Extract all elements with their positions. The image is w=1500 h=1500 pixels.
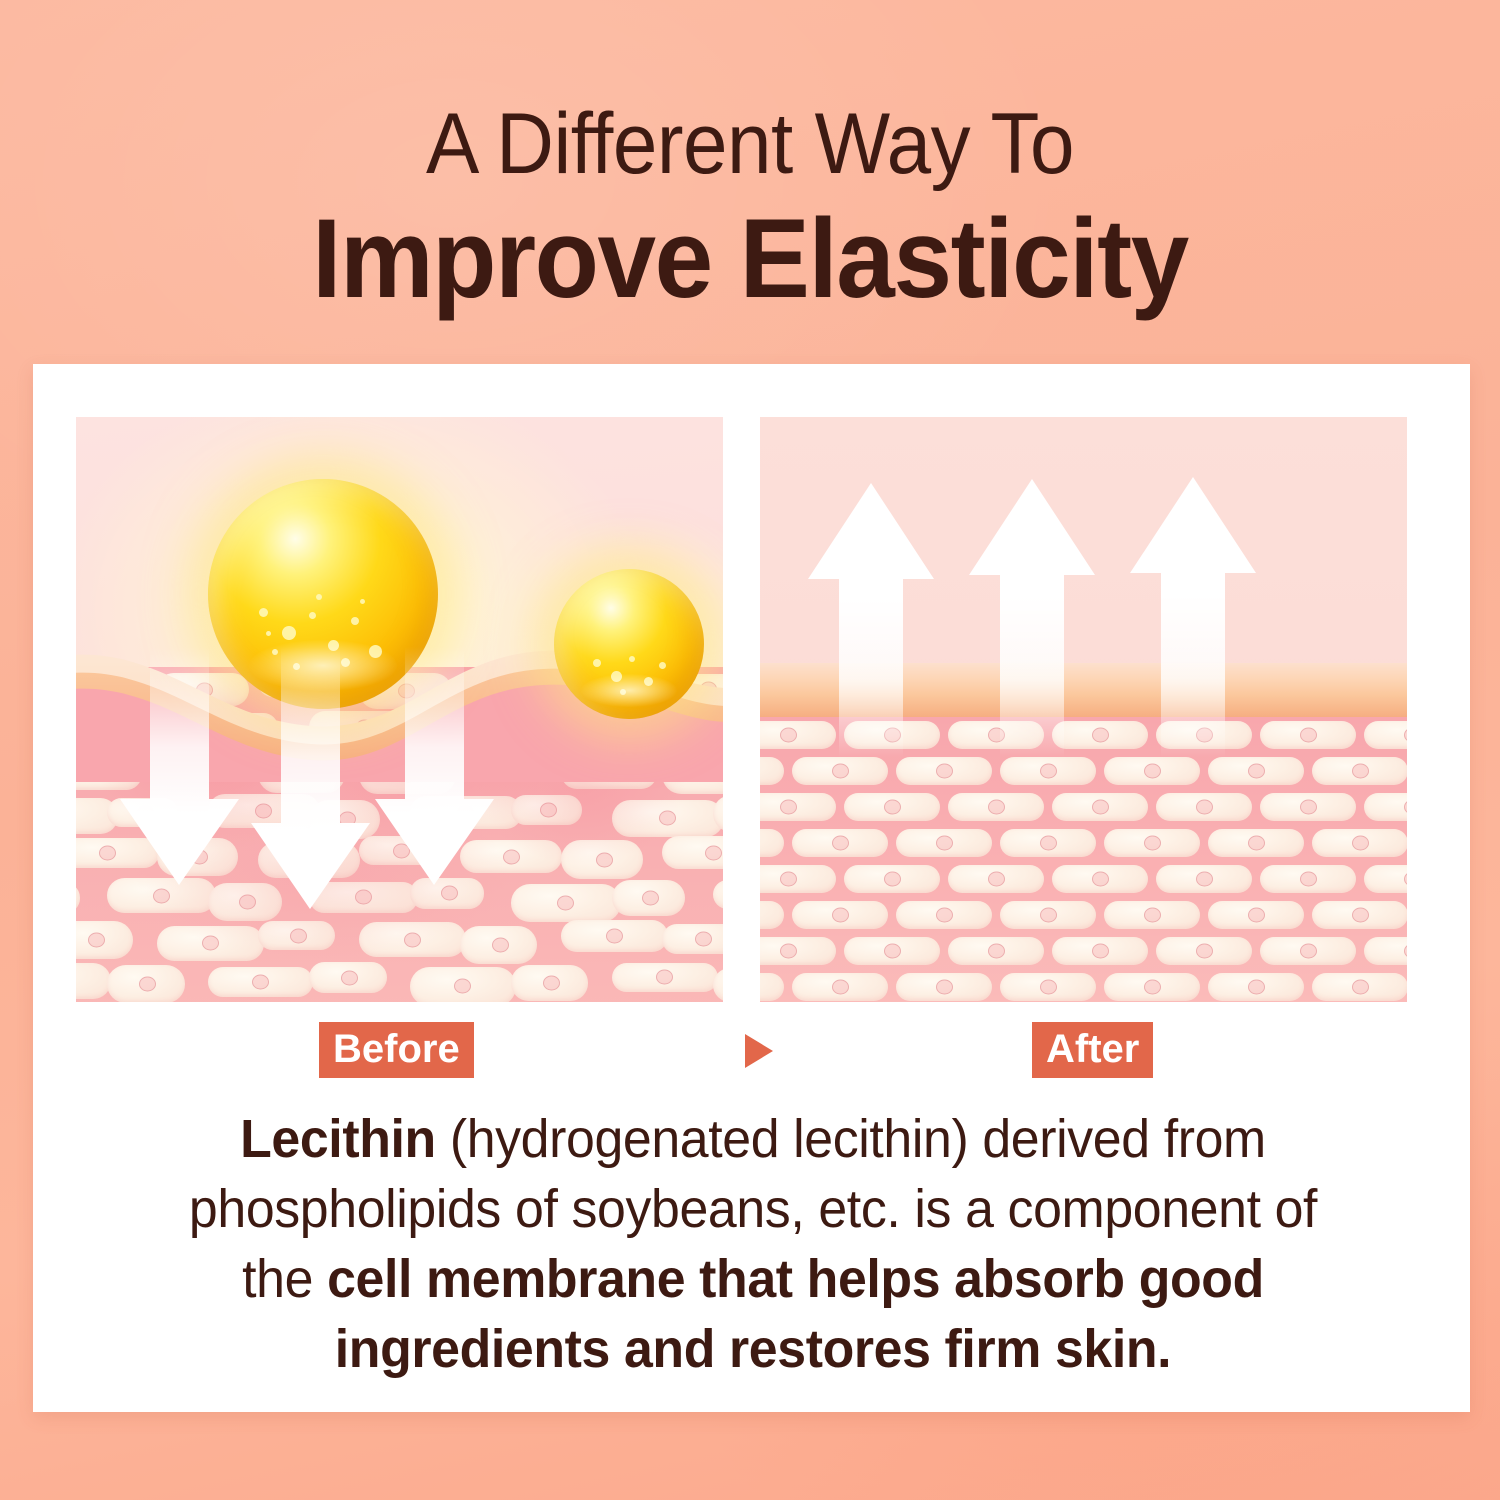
skin-cell [1000, 973, 1096, 1001]
skin-cell [1260, 937, 1356, 965]
cell-nucleus [1404, 800, 1407, 815]
skin-cell [1364, 937, 1407, 965]
skin-cell [1104, 901, 1200, 929]
skin-cell [792, 829, 888, 857]
skin-cell [1104, 973, 1200, 1001]
skin-cell [1208, 973, 1304, 1001]
skin-cell [1052, 937, 1148, 965]
cell-nucleus [832, 980, 849, 995]
cell-nucleus [1092, 944, 1109, 959]
absorption-arrows-down-icon [76, 647, 723, 987]
headline-block: A Different Way To Improve Elasticity [0, 96, 1500, 320]
cell-nucleus [1092, 800, 1109, 815]
skin-cell [1260, 865, 1356, 893]
cell-nucleus [1248, 980, 1265, 995]
cell-nucleus [884, 944, 901, 959]
skin-cell [792, 973, 888, 1001]
skin-cell [760, 793, 836, 821]
skin-cell-row [760, 933, 1407, 969]
skin-cell [1260, 793, 1356, 821]
skin-cell [896, 901, 992, 929]
skin-cell [1156, 793, 1252, 821]
skin-cell-row [760, 897, 1407, 933]
cell-nucleus [1144, 836, 1161, 851]
cell-nucleus [936, 836, 953, 851]
cell-nucleus [988, 872, 1005, 887]
skin-cell [1364, 865, 1407, 893]
cell-nucleus [832, 908, 849, 923]
lifting-arrows-up-icon [760, 457, 1407, 797]
cell-nucleus [1352, 836, 1369, 851]
cell-nucleus [936, 980, 953, 995]
cell-nucleus [1196, 872, 1213, 887]
comparison-labels-row: Before After [33, 1022, 1470, 1082]
skin-cell [1000, 829, 1096, 857]
cell-nucleus [1248, 836, 1265, 851]
skin-cell-row [760, 861, 1407, 897]
cell-nucleus [936, 908, 953, 923]
skin-cell [760, 865, 836, 893]
cell-nucleus [1040, 836, 1057, 851]
cell-nucleus [1040, 980, 1057, 995]
skin-cell [948, 937, 1044, 965]
cell-nucleus [988, 944, 1005, 959]
before-badge: Before [319, 1022, 474, 1078]
description-lead: Lecithin [240, 1109, 436, 1169]
skin-cell [760, 901, 784, 929]
cell-nucleus [1040, 908, 1057, 923]
cell-nucleus [1404, 872, 1407, 887]
triangle-right-icon [745, 1034, 773, 1068]
cell-nucleus [1092, 872, 1109, 887]
skin-cell [760, 829, 784, 857]
skin-cell [844, 937, 940, 965]
skin-cell [1312, 829, 1407, 857]
skin-cell [1208, 901, 1304, 929]
cell-nucleus [1352, 908, 1369, 923]
skin-cell [896, 973, 992, 1001]
skin-cell [1052, 865, 1148, 893]
skin-cell [948, 865, 1044, 893]
cell-nucleus [832, 836, 849, 851]
description-text: Lecithin (hydrogenated lecithin) derived… [153, 1104, 1353, 1384]
skin-cell [896, 829, 992, 857]
skin-cell [1156, 937, 1252, 965]
skin-cell [1052, 793, 1148, 821]
skin-cell [1104, 829, 1200, 857]
skin-cell [948, 793, 1044, 821]
cell-nucleus [1196, 944, 1213, 959]
cell-nucleus [1248, 908, 1265, 923]
after-panel [760, 417, 1407, 1002]
cell-nucleus [780, 944, 797, 959]
cell-nucleus [1196, 800, 1213, 815]
description-emphasis: cell membrane that helps absorb good ing… [327, 1249, 1264, 1379]
before-panel [76, 417, 723, 1002]
cell-nucleus [1300, 800, 1317, 815]
skin-cell [1364, 793, 1407, 821]
skin-cell [844, 865, 940, 893]
skin-cell [760, 937, 836, 965]
cell-nucleus [1144, 908, 1161, 923]
skin-cell [844, 793, 940, 821]
skin-cell [760, 973, 784, 1001]
skin-cell [1312, 973, 1407, 1001]
cell-nucleus [884, 800, 901, 815]
infographic-page: A Different Way To Improve Elasticity [0, 0, 1500, 1500]
cell-nucleus [1144, 980, 1161, 995]
skin-cell [1312, 901, 1407, 929]
cell-nucleus [780, 872, 797, 887]
skin-cell [1208, 829, 1304, 857]
cell-nucleus [1404, 944, 1407, 959]
skin-cell [792, 901, 888, 929]
cell-nucleus [1352, 980, 1369, 995]
cell-nucleus [1300, 872, 1317, 887]
cell-nucleus [780, 800, 797, 815]
skin-cell [1000, 901, 1096, 929]
skin-cell-row [760, 825, 1407, 861]
after-badge: After [1032, 1022, 1153, 1078]
skin-cell-row [760, 969, 1407, 1002]
cell-nucleus [1300, 944, 1317, 959]
headline-line-2: Improve Elasticity [45, 198, 1455, 320]
skin-cell [1156, 865, 1252, 893]
headline-line-1: A Different Way To [53, 96, 1448, 192]
cell-nucleus [884, 872, 901, 887]
content-card: Before After Lecithin (hydrogenated leci… [33, 364, 1470, 1412]
cell-nucleus [988, 800, 1005, 815]
